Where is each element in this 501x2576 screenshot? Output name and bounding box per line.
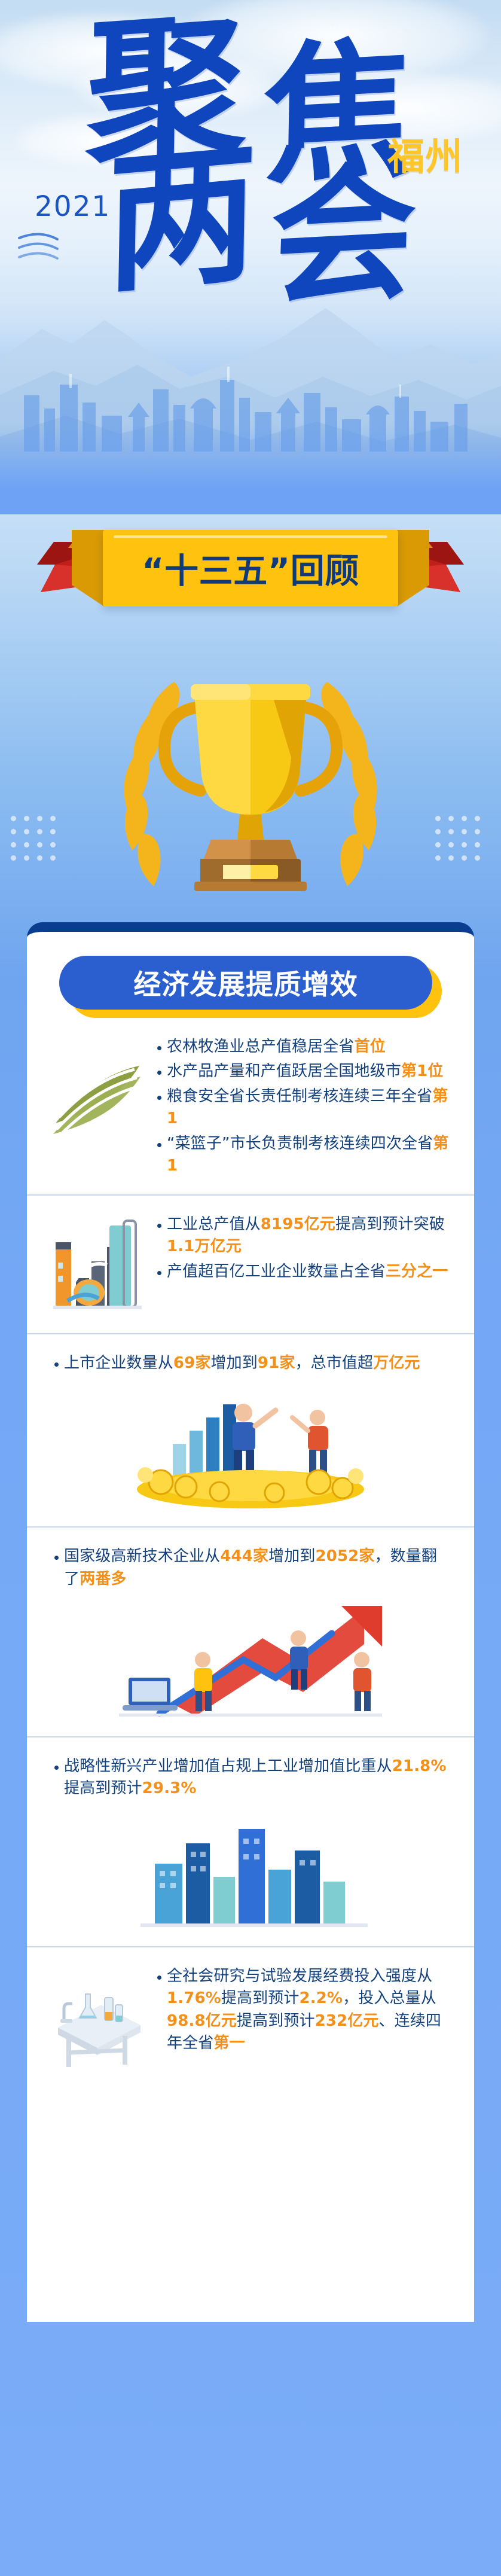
fact-block-listed-companies: 上市企业数量从69家增加到91家，总市值超万亿元 [27, 1333, 474, 1526]
highlight-value: 第一 [213, 2034, 245, 2052]
bullet-list: 农林牧渔业总产值稳居全省首位水产品产量和产值跃居全国地级市第1位粮食安全省长责任… [155, 1036, 451, 1178]
fact-bullets-hightech: 国家级高新技术企业从444家增加到2052家，数量翻了两番多 [50, 1543, 451, 1593]
highlight-value: 2.2% [300, 1989, 343, 2007]
bullet-text: 提高到预计 [237, 2012, 315, 2030]
fact-block-rnd: 全社会研究与试验发展经费投入强度从1.76%提高到预计2.2%，投入总量从98.… [27, 1946, 474, 2091]
highlight-value: 万亿元 [373, 1354, 420, 1372]
fact-bullets-listed-companies: 上市企业数量从69家增加到91家，总市值超万亿元 [50, 1350, 451, 1377]
bullet-item: “菜篮子”市长负责制考核连续四次全省第1 [155, 1133, 451, 1178]
bullet-item: 工业总产值从8195亿元提高到预计突破1.1万亿元 [155, 1214, 451, 1258]
banner-title: “十三五”回顾 [142, 544, 359, 593]
hero-fade-overlay [0, 425, 501, 514]
fact-bullets-emerging-industry: 战略性新兴产业增加值占规上工业增加值比重从21.8%提高到预计29.3% [50, 1753, 451, 1803]
bullet-text: 水产品产量和产值跃居全国地级市 [167, 1062, 401, 1080]
bullet-text: “菜篮子”市长负责制考核连续四次全省 [167, 1135, 433, 1153]
dot-grid-left [11, 816, 66, 871]
bullet-text: 增加到 [211, 1354, 258, 1372]
bullet-text: 国家级高新技术企业从 [64, 1547, 220, 1565]
highlight-value: 第1位 [401, 1062, 443, 1080]
banner-plate: “十三五”回顾 [103, 530, 398, 606]
fact-bullets-rnd: 全社会研究与试验发展经费投入强度从1.76%提高到预计2.2%，投入总量从98.… [155, 1963, 451, 2077]
bullet-list: 国家级高新技术企业从444家增加到2052家，数量翻了两番多 [52, 1545, 451, 1590]
bullet-list: 战略性新兴产业增加值占规上工业增加值比重从21.8%提高到预计29.3% [52, 1755, 451, 1800]
laboratory-icon [50, 1963, 151, 2077]
highlight-value: 2052家 [316, 1547, 375, 1565]
infographic-page: 聚 焦 两 会 2021 福州 [0, 0, 501, 2576]
highlight-value: 444家 [220, 1547, 268, 1565]
fact-block-industry: 工业总产值从8195亿元提高到预计突破1.1万亿元产值超百亿工业企业数量占全省三… [27, 1194, 474, 1333]
wheat-field-icon [50, 1034, 151, 1180]
bullet-item: 战略性新兴产业增加值占规上工业增加值比重从21.8%提高到预计29.3% [52, 1755, 451, 1800]
highlight-value: 三分之一 [386, 1263, 448, 1281]
highlight-value: 21.8% [392, 1757, 447, 1775]
gold-coins-investor-icon [50, 1386, 451, 1512]
hero-city-label: 福州 [387, 138, 463, 175]
bullet-text: 全社会研究与试验发展经费投入强度从 [167, 1967, 432, 1985]
section-header-title: 经济发展提质增效 [133, 963, 358, 1002]
fact-block-hightech: 国家级高新技术企业从444家增加到2052家，数量翻了两番多 [27, 1526, 474, 1736]
fact-bullets-industry: 工业总产值从8195亿元提高到预计突破1.1万亿元产值超百亿工业企业数量占全省三… [155, 1211, 451, 1319]
section-header: 经济发展提质增效 [59, 956, 442, 1018]
bullet-text: ，总市值超 [295, 1354, 373, 1372]
bullet-text: 提高到预计 [221, 1989, 300, 2007]
bullet-text: 工业总产值从 [167, 1215, 261, 1233]
hero-calligraphy-char-4: 会 [268, 173, 413, 300]
highlight-value: 29.3% [142, 1779, 197, 1797]
bullet-list: 上市企业数量从69家增加到91家，总市值超万亿元 [52, 1352, 451, 1374]
dot-grid-right [435, 816, 490, 871]
highlight-value: 232亿元 [315, 2012, 379, 2030]
bullet-text: 农林牧渔业总产值稳居全省 [167, 1038, 355, 1056]
bullet-text: 增加到 [268, 1547, 315, 1565]
trophy-laurel-icon [83, 636, 418, 900]
bullet-item: 产值超百亿工业企业数量占全省三分之一 [155, 1261, 451, 1283]
bullet-list: 全社会研究与试验发展经费投入强度从1.76%提高到预计2.2%，投入总量从98.… [155, 1965, 451, 2055]
highlight-value: 两番多 [80, 1570, 126, 1588]
bullet-text: 战略性新兴产业增加值占规上工业增加值比重从 [64, 1757, 392, 1775]
hero-year-label: 2021 [35, 190, 111, 223]
bullet-list: 工业总产值从8195亿元提高到预计突破1.1万亿元产值超百亿工业企业数量占全省三… [155, 1214, 451, 1283]
highlight-value: 1.76% [167, 1989, 221, 2007]
bullet-item: 上市企业数量从69家增加到91家，总市值超万亿元 [52, 1352, 451, 1374]
hero-calligraphy-char-3: 两 [106, 151, 252, 288]
bullet-text: 提高到预计突破 [335, 1215, 445, 1233]
factory-icon [50, 1211, 151, 1319]
bullet-text: 提高到预计 [64, 1779, 142, 1797]
highlight-value: 首位 [355, 1038, 386, 1056]
highlight-value: 98.8亿元 [167, 2012, 237, 2030]
trophy-illustration [0, 636, 501, 922]
bullet-text: 粮食安全省长责任制考核连续三年全省 [167, 1087, 432, 1105]
highlight-value: 8195亿元 [261, 1215, 335, 1233]
bullet-text: ，投入总量从 [343, 1989, 436, 2007]
highlight-value: 69家 [173, 1354, 211, 1372]
bullet-item: 粮食安全省长责任制考核连续三年全省第1 [155, 1086, 451, 1130]
bullet-item: 农林牧渔业总产值稳居全省首位 [155, 1036, 451, 1058]
review-banner: “十三五”回顾 [0, 517, 501, 636]
bullet-item: 水产品产量和产值跃居全国地级市第1位 [155, 1060, 451, 1083]
bullet-item: 全社会研究与试验发展经费投入强度从1.76%提高到预计2.2%，投入总量从98.… [155, 1965, 451, 2055]
hero-header: 聚 焦 两 会 2021 福州 [0, 0, 501, 514]
fact-bullets-agriculture: 农林牧渔业总产值稳居全省首位水产品产量和产值跃居全国地级市第1位粮食安全省长责任… [155, 1034, 451, 1180]
fact-block-emerging-industry: 战略性新兴产业增加值占规上工业增加值比重从21.8%提高到预计29.3% [27, 1736, 474, 1946]
hero-title-group: 聚 焦 两 会 2021 福州 [0, 0, 501, 383]
bullet-text: 产值超百亿工业企业数量占全省 [167, 1263, 386, 1281]
section-header-pill: 经济发展提质增效 [59, 956, 432, 1010]
wave-ornament-icon [17, 232, 74, 266]
growth-arrow-team-icon [50, 1602, 451, 1722]
fact-block-agriculture: 农林牧渔业总产值稳居全省首位水产品产量和产值跃居全国地级市第1位粮食安全省长责任… [27, 1018, 474, 1194]
highlight-value: 91家 [258, 1354, 295, 1372]
bullet-item: 国家级高新技术企业从444家增加到2052家，数量翻了两番多 [52, 1545, 451, 1590]
content-card: 经济发展提质增效 农林牧渔业总产值稳居全省首位水产品产量和产值跃居全国地级市第1… [27, 922, 474, 2322]
bullet-text: 上市企业数量从 [64, 1354, 173, 1372]
city-buildings-icon [50, 1812, 451, 1932]
highlight-value: 1.1万亿元 [167, 1237, 242, 1255]
